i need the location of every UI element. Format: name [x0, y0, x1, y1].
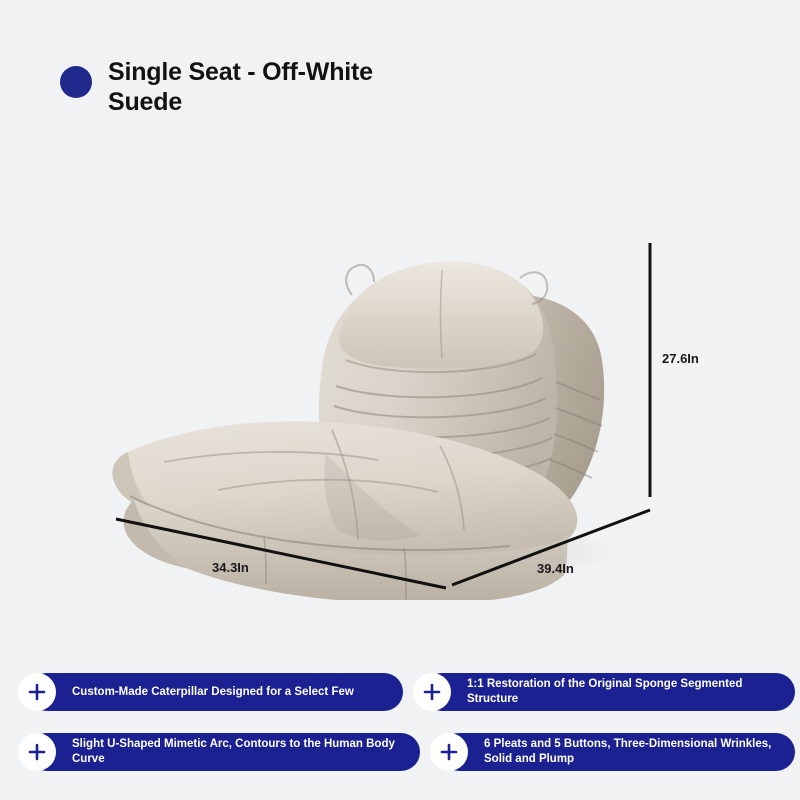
- dimension-label-depth: 39.4In: [537, 561, 574, 576]
- feature-badge-2-label: 1:1 Restoration of the Original Sponge S…: [423, 677, 795, 706]
- feature-badge-3[interactable]: Slight U-Shaped Mimetic Arc, Contours to…: [28, 733, 420, 771]
- plus-icon: [18, 673, 56, 711]
- product-title-row: Single Seat - Off-White Suede: [60, 58, 373, 117]
- page-title: Single Seat - Off-White Suede: [108, 58, 373, 117]
- feature-badge-1-label: Custom-Made Caterpillar Designed for a S…: [28, 685, 360, 700]
- feature-badge-4[interactable]: 6 Pleats and 5 Buttons, Three-Dimensiona…: [440, 733, 795, 771]
- plus-icon: [430, 733, 468, 771]
- plus-icon: [413, 673, 451, 711]
- product-image-stage: [0, 140, 800, 640]
- product-photo: [90, 200, 660, 600]
- feature-badge-4-label: 6 Pleats and 5 Buttons, Three-Dimensiona…: [440, 737, 777, 766]
- plus-icon: [18, 733, 56, 771]
- feature-badge-group: Custom-Made Caterpillar Designed for a S…: [0, 664, 800, 784]
- feature-badge-2[interactable]: 1:1 Restoration of the Original Sponge S…: [423, 673, 795, 711]
- feature-badge-1[interactable]: Custom-Made Caterpillar Designed for a S…: [28, 673, 403, 711]
- dimension-label-width: 34.3In: [212, 560, 249, 575]
- dimension-label-height: 27.6In: [662, 351, 699, 366]
- feature-badge-3-label: Slight U-Shaped Mimetic Arc, Contours to…: [28, 737, 420, 766]
- title-bullet-icon: [60, 66, 92, 98]
